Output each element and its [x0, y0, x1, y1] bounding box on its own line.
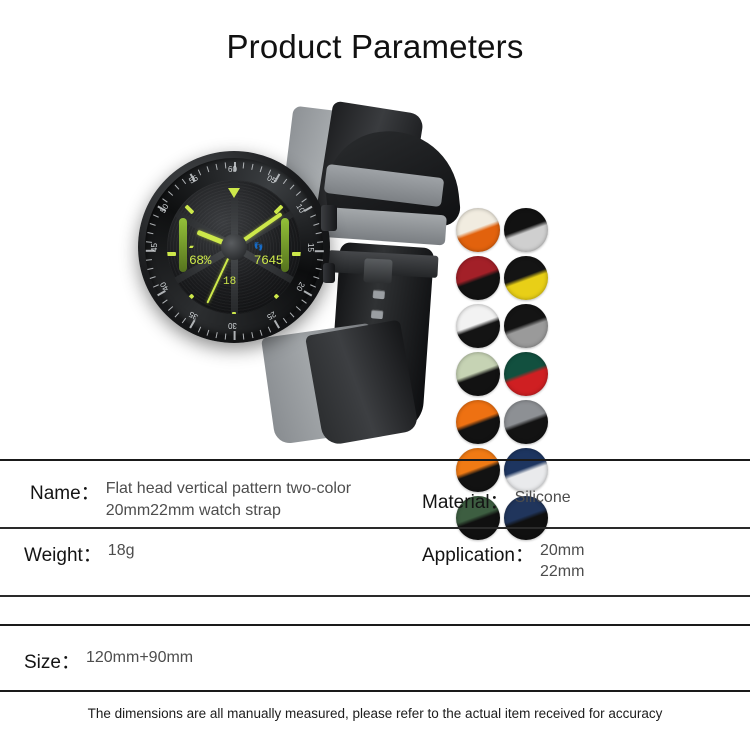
product-photo: 051015202530354045505560 [0, 95, 750, 445]
bezel-numeral: 35 [187, 309, 199, 321]
dial-hub [221, 234, 247, 260]
dial-top-triangle [228, 188, 240, 198]
bezel-numeral: 30 [228, 321, 237, 330]
watch-case: 051015202530354045505560 [138, 151, 330, 343]
color-swatch-orange-cream[interactable] [456, 208, 500, 252]
table-rule-2 [0, 595, 750, 597]
strap-buckle-tongue [363, 258, 392, 283]
spec-name: Name： Flat head vertical pattern two-col… [30, 478, 351, 522]
dial-steps-stat: 👣 7645 [254, 242, 283, 268]
watch-dial: ▰ 68% 👣 7645 18 [167, 180, 301, 314]
spec-application-label: Application： [422, 540, 534, 567]
table-row: Weight： 18g Application： 20mm 22mm [0, 535, 750, 593]
color-swatch-black-gray[interactable] [504, 304, 548, 348]
watch-bezel: 051015202530354045505560 [145, 158, 323, 336]
spec-weight: Weight： 18g [24, 540, 135, 567]
color-swatch-gray-black[interactable] [504, 400, 548, 444]
bezel-numeral: 55 [187, 174, 199, 186]
color-swatch-sage-black[interactable] [456, 352, 500, 396]
spec-name-label: Name： [30, 478, 100, 505]
spec-name-value-line1: Flat head vertical pattern two-color [106, 478, 351, 500]
spec-application-value: 20mm 22mm [540, 540, 584, 582]
bezel-numeral: 50 [159, 202, 171, 214]
spec-size-value: 120mm+90mm [86, 647, 193, 669]
watch-crown [321, 205, 337, 231]
footsteps-icon: 👣 [254, 242, 283, 252]
bezel-numeral: 05 [265, 174, 277, 186]
table-rule-3 [0, 624, 750, 626]
bezel-numeral: 15 [306, 243, 315, 252]
product-parameters-page: Product Parameters 051015202530354045505… [0, 0, 750, 750]
spec-weight-value: 18g [108, 540, 135, 562]
dial-battery-stat: ▰ 68% [189, 242, 211, 268]
dial-arc-left [179, 218, 187, 272]
table-row: Name： Flat head vertical pattern two-col… [0, 470, 750, 527]
color-swatch-red-black[interactable] [456, 256, 500, 300]
dial-steps-value: 7645 [254, 253, 283, 268]
dial-date-value: 18 [223, 276, 236, 288]
color-swatch-white-black[interactable] [456, 304, 500, 348]
color-swatch-black-silver[interactable] [504, 208, 548, 252]
spec-application-value-line1: 20mm [540, 540, 584, 561]
spec-application-value-line2: 22mm [540, 561, 584, 582]
spec-name-value-line2: 20mm22mm watch strap [106, 500, 351, 522]
table-row: Size： 120mm+90mm [0, 645, 750, 689]
battery-icon: ▰ [189, 242, 211, 252]
table-rule-1 [0, 527, 750, 529]
spec-name-value: Flat head vertical pattern two-color 20m… [106, 478, 351, 522]
dial-battery-value: 68% [189, 253, 211, 268]
color-swatch-red-darkgreen[interactable] [504, 352, 548, 396]
color-swatch-black-yellow[interactable] [504, 256, 548, 300]
bezel-numeral: 40 [159, 280, 171, 292]
watch-pusher [323, 263, 335, 283]
spec-material-label: Material： [422, 487, 509, 514]
smartwatch-illustration: 051015202530354045505560 [118, 105, 458, 435]
spec-application: Application： 20mm 22mm [422, 540, 584, 582]
table-rule-bottom [0, 690, 750, 692]
bezel-numeral: 45 [150, 243, 159, 252]
table-rule-top [0, 459, 750, 461]
spec-material: Material： Silicone [422, 487, 571, 514]
page-title: Product Parameters [0, 28, 750, 66]
spec-size: Size： 120mm+90mm [24, 647, 193, 674]
color-swatch-orange-black[interactable] [456, 400, 500, 444]
measurement-disclaimer: The dimensions are all manually measured… [0, 706, 750, 721]
bezel-numeral: 60 [228, 165, 237, 174]
spec-size-label: Size： [24, 647, 80, 674]
strap-lower-black [305, 320, 419, 447]
spec-weight-label: Weight： [24, 540, 102, 567]
spec-material-value: Silicone [515, 487, 571, 509]
